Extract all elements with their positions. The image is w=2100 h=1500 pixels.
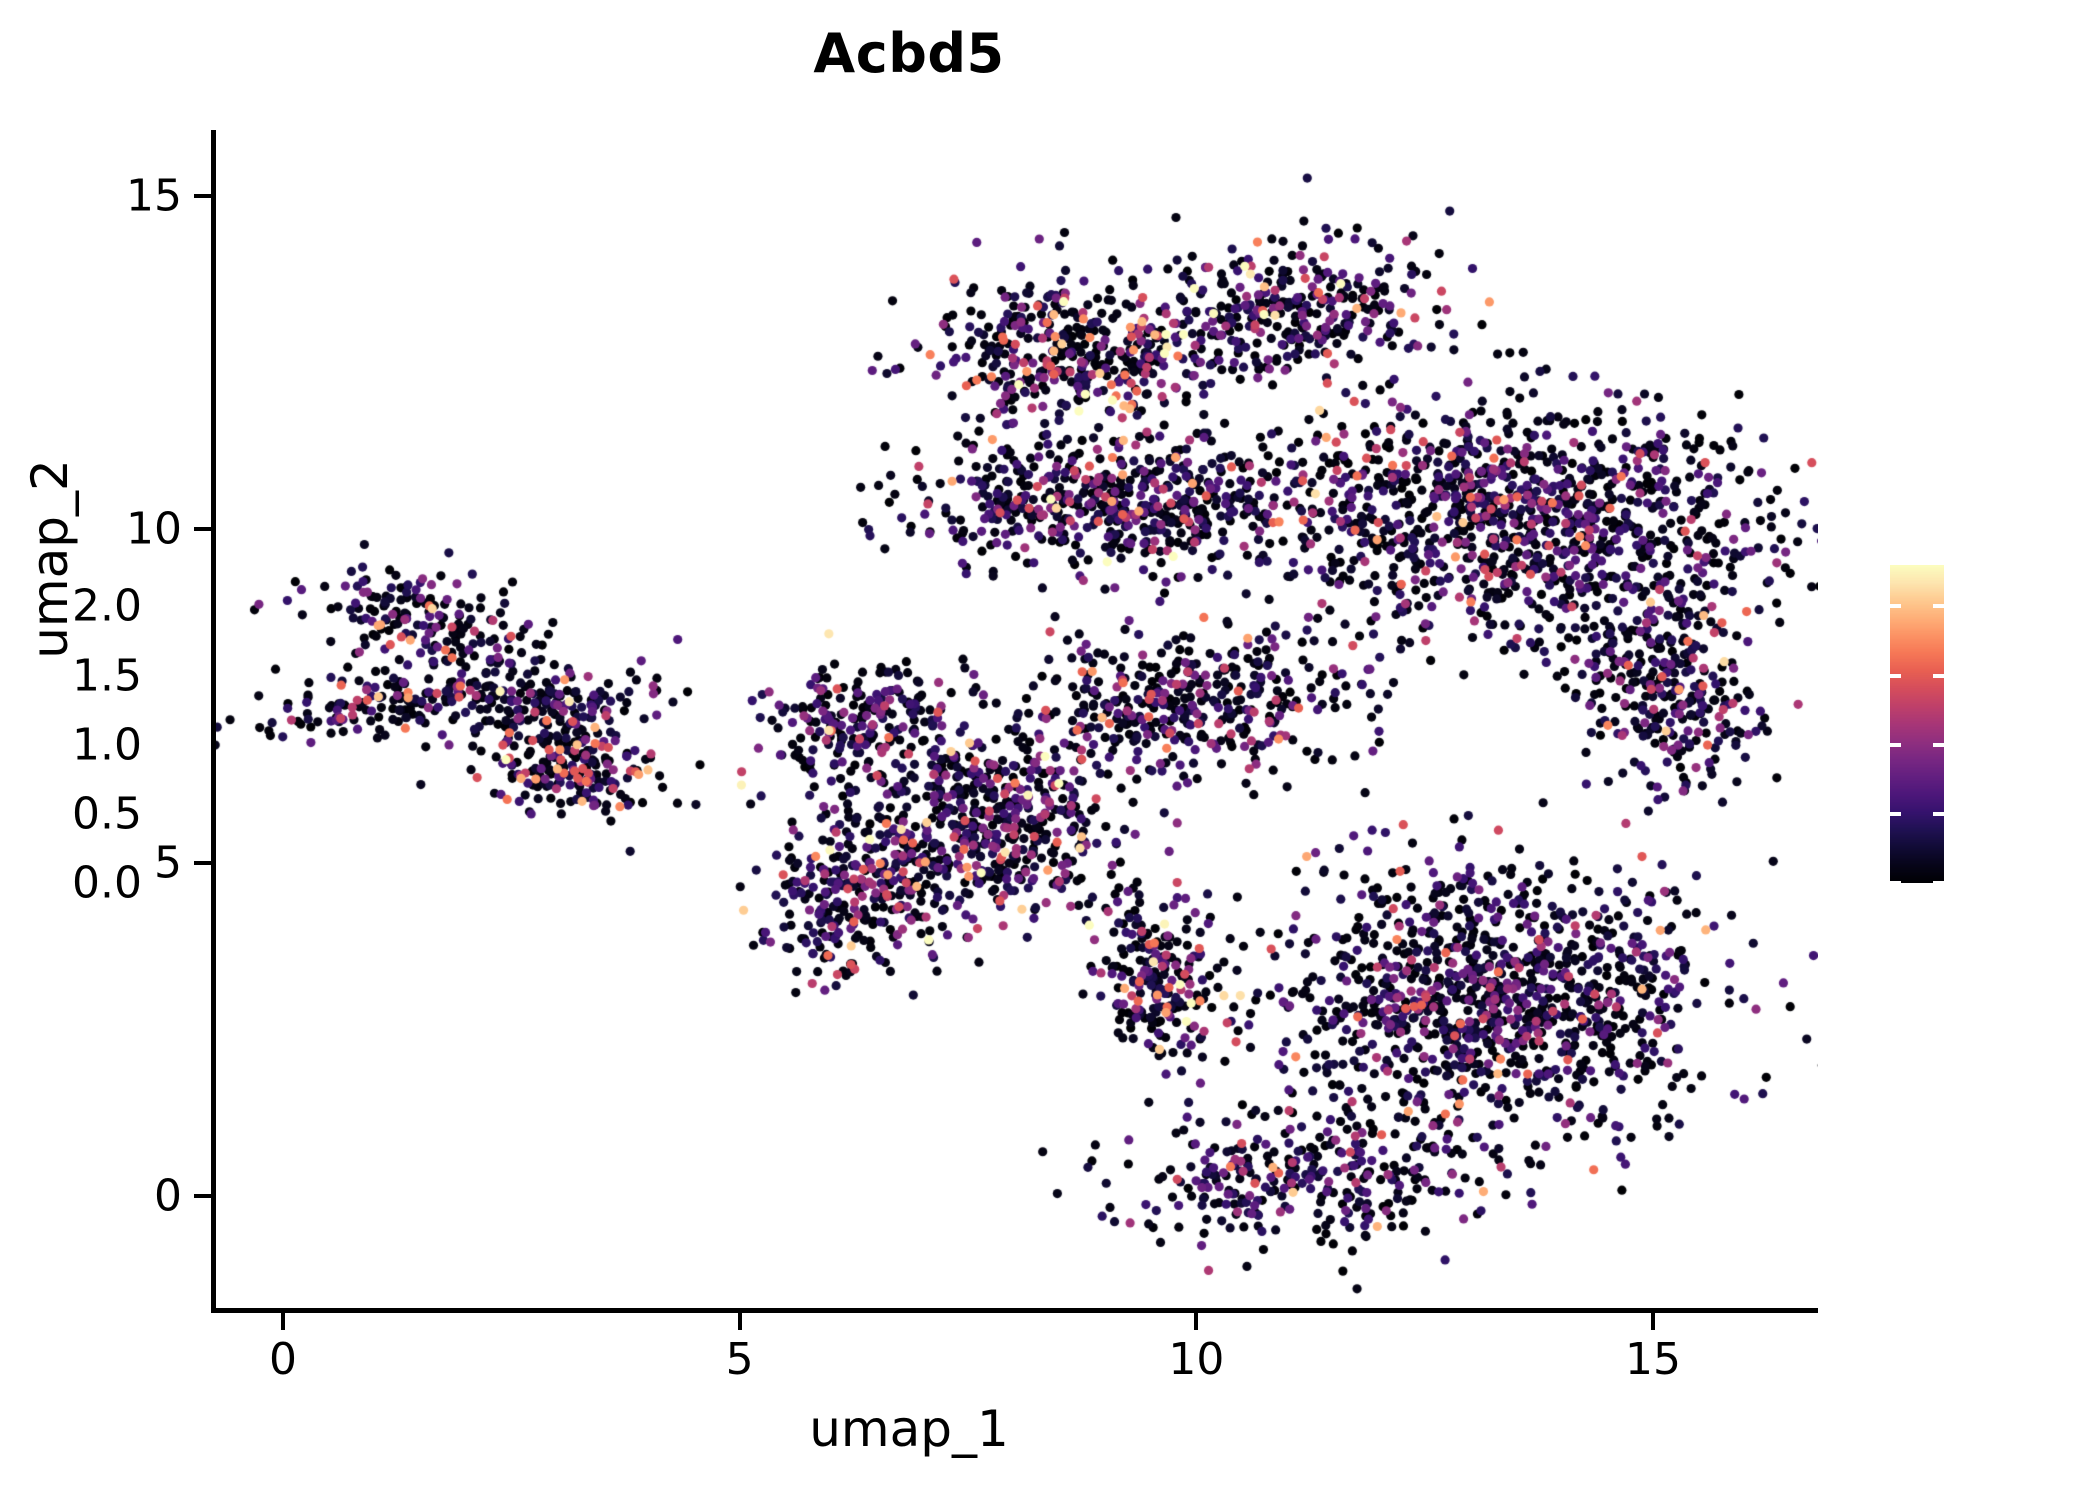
colorbar-tick-mark [1890,812,1901,816]
y-tick-mark [194,1194,211,1198]
y-tick-mark [194,527,211,531]
x-tick-mark [1194,1313,1198,1330]
colorbar-tick-label: 0.0 [72,858,142,909]
colorbar-tick-mark [1933,812,1944,816]
x-axis-spine [211,1308,1818,1313]
colorbar-gradient [1890,565,1944,883]
colorbar-tick-mark [1890,881,1901,885]
colorbar-tick-mark [1890,674,1901,678]
colorbar-tick-mark [1933,674,1944,678]
x-tick-mark [738,1313,742,1330]
x-tick-mark [1651,1313,1655,1330]
colorbar [1890,565,1944,883]
y-tick-label: 0 [154,1171,182,1222]
y-axis-label: umap_2 [21,249,79,869]
x-tick-label: 5 [726,1334,754,1385]
colorbar-tick-mark [1933,881,1944,885]
x-tick-mark [281,1313,285,1330]
x-tick-label: 0 [269,1334,297,1385]
colorbar-tick-mark [1933,743,1944,747]
x-axis-label: umap_1 [0,1400,1818,1458]
colorbar-tick-label: 0.5 [72,788,142,839]
y-tick-mark [194,861,211,865]
y-tick-label: 10 [126,504,182,555]
colorbar-tick-label: 1.0 [72,719,142,770]
umap-figure: Acbd5 051015 051015 umap_1 umap_2 2.01.5… [0,0,2100,1500]
y-tick-label: 5 [154,837,182,888]
colorbar-tick-label: 1.5 [72,650,142,701]
page-title: Acbd5 [0,22,1818,85]
scatter-plot-canvas [213,130,1818,1310]
y-tick-label: 15 [126,171,182,222]
colorbar-tick-label: 2.0 [72,581,142,632]
y-tick-mark [194,194,211,198]
x-tick-label: 10 [1168,1334,1224,1385]
colorbar-tick-mark [1933,604,1944,608]
y-axis-spine [211,130,216,1312]
colorbar-tick-mark [1890,604,1901,608]
x-tick-label: 15 [1625,1334,1681,1385]
colorbar-tick-mark [1890,743,1901,747]
